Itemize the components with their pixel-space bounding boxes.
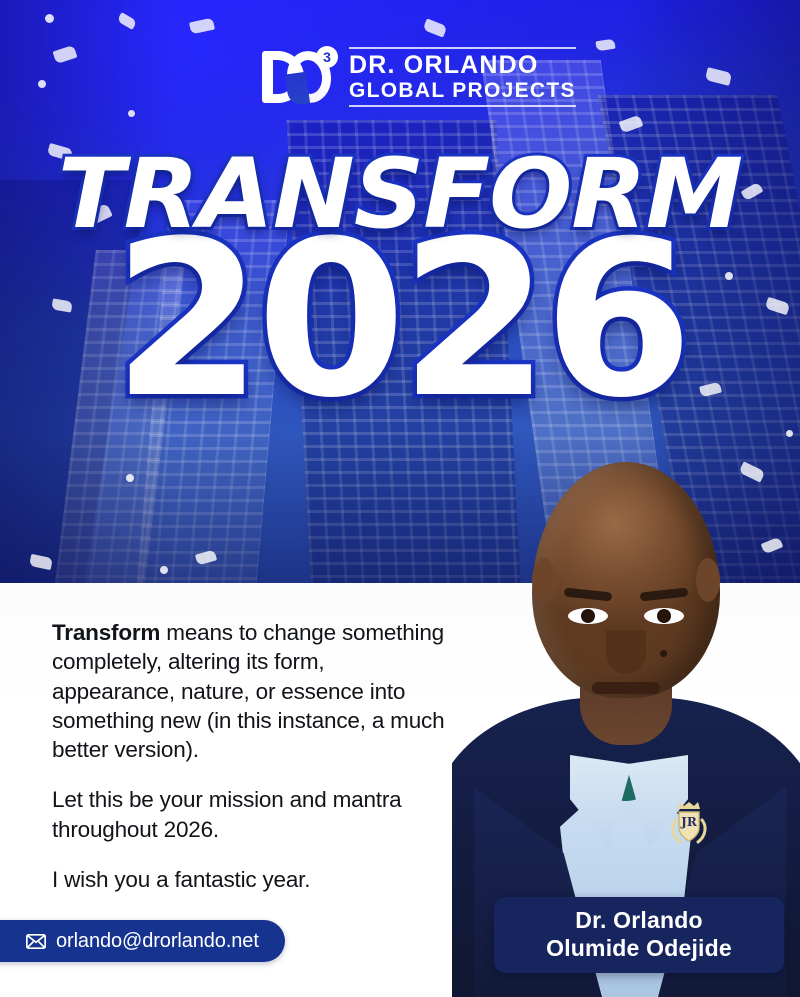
body-copy: Transform means to change something comp… xyxy=(52,618,452,894)
confetti-dot xyxy=(45,14,54,23)
portrait-eyebrow-left xyxy=(640,588,689,602)
wordmark-rule-bottom xyxy=(349,105,576,107)
portrait-mole xyxy=(660,650,667,657)
portrait-ear-right xyxy=(696,558,720,602)
confetti-dot xyxy=(160,566,168,574)
brand-logo[interactable]: 3 DR. ORLANDO GLOBAL PROJECTS xyxy=(262,47,576,107)
brand-line-2: GLOBAL PROJECTS xyxy=(349,79,576,102)
portrait-nose xyxy=(606,630,646,674)
brand-line-1: DR. ORLANDO xyxy=(349,52,576,79)
body-bold-transform: Transform xyxy=(52,620,160,645)
speaker-name-line-2: Olumide Odejide xyxy=(508,934,770,962)
headline-year: 2026 xyxy=(0,232,800,408)
confetti-dot xyxy=(38,80,46,88)
wordmark-rule-top xyxy=(349,47,576,49)
portrait-head xyxy=(532,462,720,698)
body-paragraph-1: Transform means to change something comp… xyxy=(52,618,452,764)
headline-block: TRANSFORM 2026 xyxy=(0,150,800,409)
confetti-dot xyxy=(128,110,135,117)
portrait-ear-left xyxy=(532,558,556,602)
body-paragraph-2: Let this be your mission and mantra thro… xyxy=(52,785,452,844)
portrait-eye-left xyxy=(644,608,684,624)
email-address: orlando@drorlando.net xyxy=(56,930,259,953)
do-cubed-monogram-icon: 3 xyxy=(262,47,336,107)
svg-text:JR: JR xyxy=(680,815,698,829)
suit-crest-icon: JR xyxy=(666,798,712,850)
body-paragraph-3: I wish you a fantastic year. xyxy=(52,865,452,894)
speaker-name-badge: Dr. Orlando Olumide Odejide xyxy=(494,897,784,973)
envelope-icon xyxy=(26,934,46,949)
email-contact-pill[interactable]: orlando@drorlando.net xyxy=(0,920,285,962)
poster-canvas: 3 DR. ORLANDO GLOBAL PROJECTS TRANSFORM … xyxy=(0,0,800,997)
speaker-name-line-1: Dr. Orlando xyxy=(508,906,770,934)
headline-transform: TRANSFORM xyxy=(0,150,800,238)
brand-wordmark: DR. ORLANDO GLOBAL PROJECTS xyxy=(349,47,576,107)
portrait-mouth xyxy=(592,682,660,694)
superscript-three: 3 xyxy=(316,46,338,68)
confetti-dot xyxy=(126,474,134,482)
portrait-eye-right xyxy=(568,608,608,624)
portrait-eyebrow-right xyxy=(564,588,613,602)
